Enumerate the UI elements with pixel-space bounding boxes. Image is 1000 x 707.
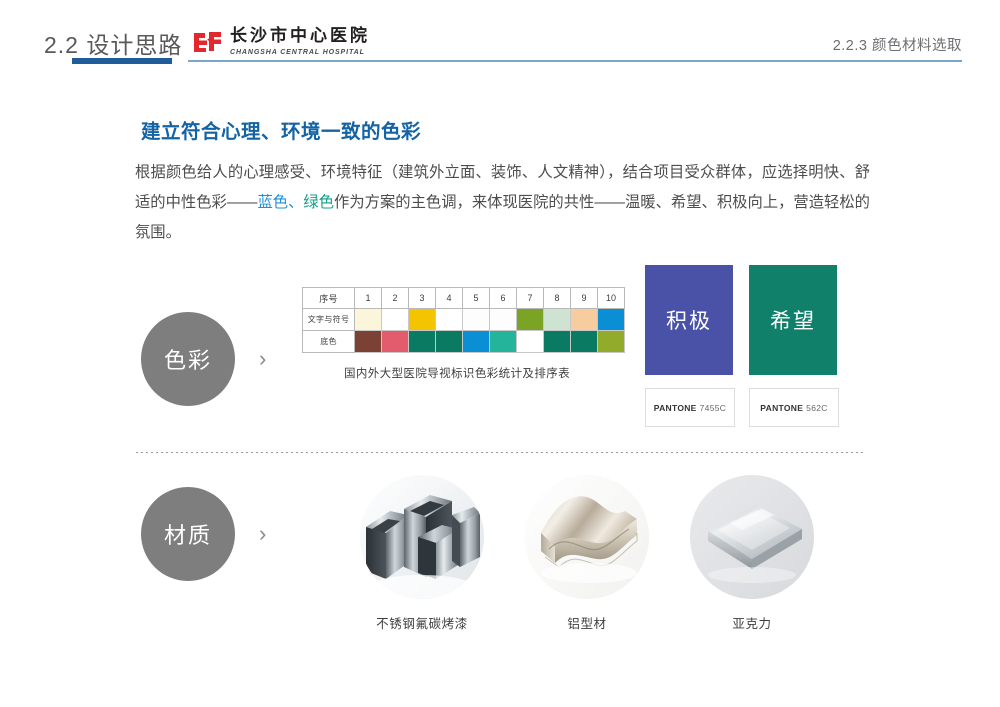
slide-root: 2.2 设计思路 长沙市中心医院 CHANGSHA CENTRAL HOSPIT… [0, 0, 1000, 707]
hospital-name-cn: 长沙市中心医院 [230, 28, 370, 45]
pantone-swatch-positive: 积极 PANTONE7455C [645, 265, 735, 427]
pantone-swatch-hope-label: 希望 [770, 305, 816, 335]
table-cell-index-7: 7 [517, 288, 544, 309]
pantone-code-value: 7455C [700, 403, 727, 413]
material-acrylic: 亚克力 [687, 475, 817, 632]
table-cell-bg-color-9 [571, 331, 598, 353]
table-cell-index-2: 2 [382, 288, 409, 309]
content-paragraph: 根据颜色给人的心理感受、环境特征（建筑外立面、装饰、人文精神），结合项目受众群体… [135, 158, 870, 248]
category-material: 材质 › [141, 487, 266, 581]
color-statistics-table: 序号 12345678910 文字与符号 底色 [302, 287, 625, 353]
table-cell-bg-color-7 [517, 331, 544, 353]
section-number: 2.2 [44, 32, 79, 58]
material-aluminium-image [525, 475, 649, 599]
table-cell-index-10: 10 [598, 288, 625, 309]
header-rule [188, 60, 962, 62]
category-color-circle: 色彩 [141, 312, 235, 406]
paragraph-highlight-blue: 蓝色 [257, 194, 288, 211]
table-cell-index-4: 4 [436, 288, 463, 309]
table-cell-text-color-1 [355, 309, 382, 331]
table-cell-index-9: 9 [571, 288, 598, 309]
paragraph-highlight-green: 绿色 [303, 194, 334, 211]
table-cell-bg-color-1 [355, 331, 382, 353]
category-material-label: 材质 [164, 518, 212, 550]
row-label-text-symbol: 文字与符号 [303, 309, 355, 331]
section-title: 设计思路 [86, 32, 182, 58]
pantone-swatch-positive-chip: 积极 [645, 265, 733, 375]
table-cell-index-5: 5 [463, 288, 490, 309]
table-cell-text-color-3 [409, 309, 436, 331]
table-cell-index-3: 3 [409, 288, 436, 309]
table-cell-text-color-10 [598, 309, 625, 331]
material-steel-image [360, 475, 484, 599]
page-title: 2.2 设计思路 [44, 26, 182, 60]
pantone-brand: PANTONE [760, 403, 803, 413]
chevron-right-icon: › [259, 348, 266, 370]
table-cell-text-color-9 [571, 309, 598, 331]
table-cell-bg-color-5 [463, 331, 490, 353]
hospital-logo-mark-icon [193, 30, 223, 54]
category-material-circle: 材质 [141, 487, 235, 581]
material-aluminium-label: 铝型材 [522, 613, 652, 632]
table-cell-text-color-6 [490, 309, 517, 331]
category-color-label: 色彩 [164, 343, 212, 375]
table-cell-text-color-5 [463, 309, 490, 331]
table-cell-text-color-4 [436, 309, 463, 331]
section-divider [136, 452, 866, 453]
material-acrylic-label: 亚克力 [687, 613, 817, 632]
pantone-swatch-hope-code: PANTONE562C [749, 388, 839, 427]
table-caption: 国内外大型医院导视标识色彩统计及排序表 [302, 365, 612, 381]
row-label-index: 序号 [303, 288, 355, 309]
row-label-background: 底色 [303, 331, 355, 353]
hospital-logo: 长沙市中心医院 CHANGSHA CENTRAL HOSPITAL [193, 26, 370, 58]
title-underline-bar [72, 58, 172, 64]
category-color: 色彩 › [141, 312, 266, 406]
pantone-brand: PANTONE [654, 403, 697, 413]
pantone-swatch-hope-chip: 希望 [749, 265, 837, 375]
table-cell-bg-color-2 [382, 331, 409, 353]
pantone-swatch-hope: 希望 PANTONE562C [749, 265, 839, 427]
material-steel-label: 不锈钢氟碳烤漆 [357, 613, 487, 632]
material-steel: 不锈钢氟碳烤漆 [357, 475, 487, 632]
table-row-background: 底色 [303, 331, 625, 353]
table-cell-bg-color-6 [490, 331, 517, 353]
table-cell-bg-color-10 [598, 331, 625, 353]
table-cell-text-color-7 [517, 309, 544, 331]
content-heading: 建立符合心理、环境一致的色彩 [141, 115, 421, 144]
hospital-name-en: CHANGSHA CENTRAL HOSPITAL [230, 49, 370, 56]
table-cell-bg-color-4 [436, 331, 463, 353]
table-cell-index-8: 8 [544, 288, 571, 309]
table-cell-text-color-2 [382, 309, 409, 331]
table-cell-bg-color-8 [544, 331, 571, 353]
table-row-text-symbol: 文字与符号 [303, 309, 625, 331]
table-cell-text-color-8 [544, 309, 571, 331]
hospital-logo-text: 长沙市中心医院 CHANGSHA CENTRAL HOSPITAL [230, 28, 370, 56]
pantone-swatch-positive-code: PANTONE7455C [645, 388, 735, 427]
paragraph-separator: 、 [288, 194, 303, 211]
pantone-swatch-positive-label: 积极 [666, 305, 712, 335]
material-acrylic-image [690, 475, 814, 599]
table-row-index: 序号 12345678910 [303, 288, 625, 309]
subsection-label: 2.2.3 颜色材料选取 [833, 34, 962, 55]
table-cell-bg-color-3 [409, 331, 436, 353]
pantone-code-value: 562C [806, 403, 828, 413]
table-cell-index-1: 1 [355, 288, 382, 309]
chevron-right-icon: › [259, 523, 266, 545]
material-aluminium: 铝型材 [522, 475, 652, 632]
table-cell-index-6: 6 [490, 288, 517, 309]
slide-header: 2.2 设计思路 长沙市中心医院 CHANGSHA CENTRAL HOSPIT… [0, 0, 1000, 72]
